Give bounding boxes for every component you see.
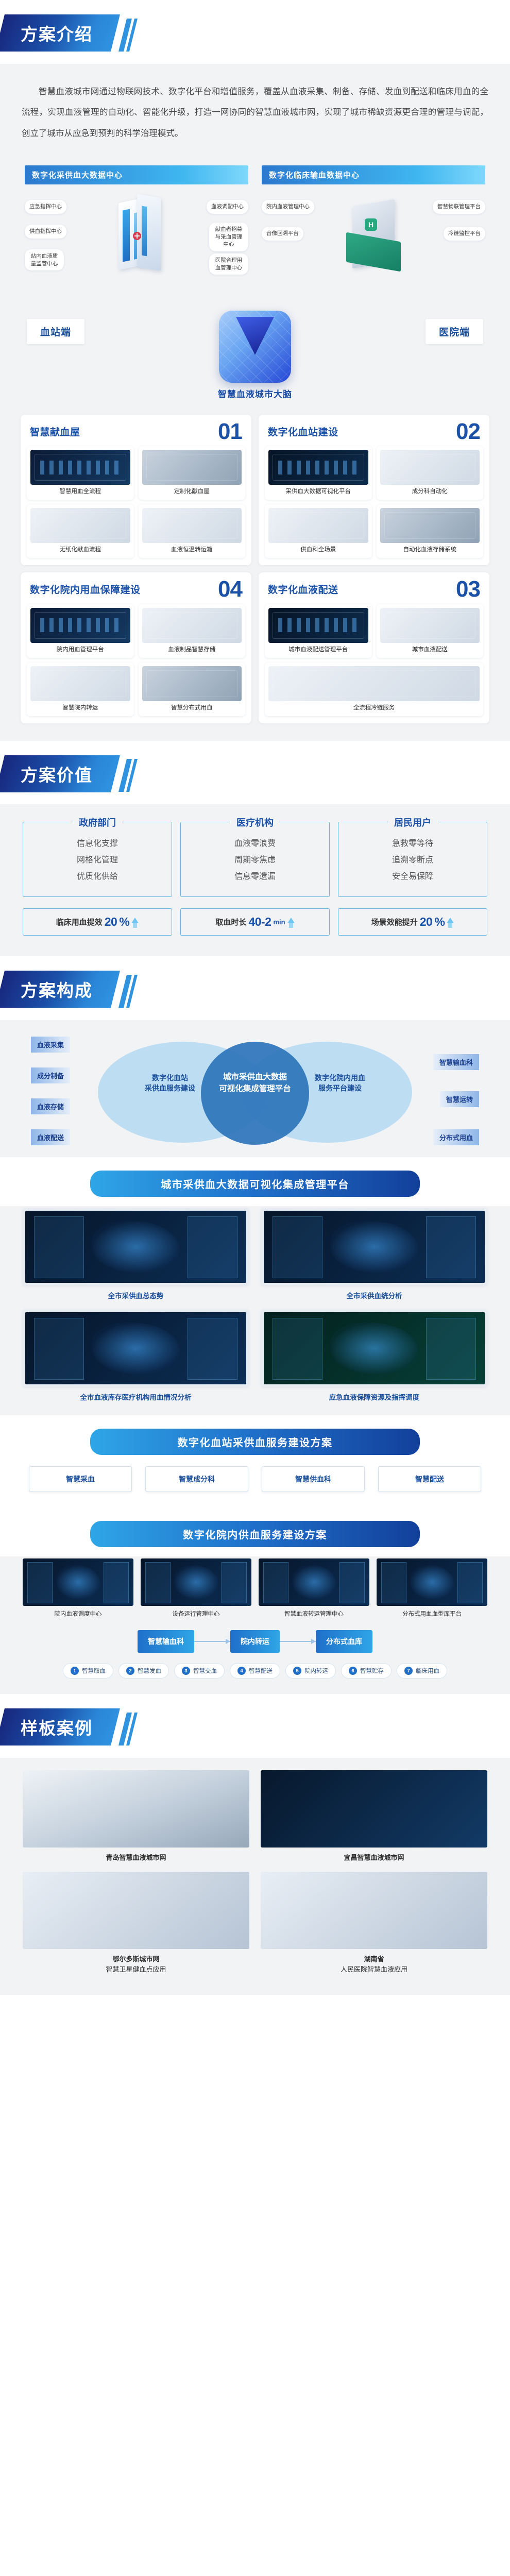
intro-paragraph: 智慧血液城市网通过物联网技术、数字化平台和增值服务，覆盖从血液采集、制备、存储、… [22, 81, 488, 144]
hospital-flow-row: 智慧输血科 院内转运 分布式血库 [23, 1630, 487, 1653]
brain-caption: 智慧血液城市大脑 [218, 387, 292, 400]
venn-side-tag-right: 智慧输血科 [433, 1054, 479, 1070]
tile-label: 成分科自动化 [380, 488, 480, 496]
dashboard-caption: 全市血液库存医疗机构用血情况分析 [23, 1392, 249, 1402]
value-card-title: 居民用户 [388, 816, 437, 829]
data-center-left: 数字化采供血大数据中心 应急指挥中心 供血指挥中心 站内血液质量监管中心 血液调… [25, 165, 248, 283]
data-center-right: 数字化临床输血数据中心 H 院内血液管理中心 音像回溯平台 智慧物联管理平台 冷… [262, 165, 485, 283]
case-item[interactable]: 宜昌智慧血液城市网 [261, 1770, 487, 1863]
hospital-building-icon: H [343, 196, 404, 281]
scheme-chip[interactable]: 智慧成分科 [145, 1466, 248, 1492]
step-label: 智慧发血 [138, 1667, 161, 1675]
venn-side-tag-left: 血液配送 [31, 1129, 70, 1145]
dc-pill: 应急指挥中心 [25, 200, 66, 214]
station-scheme-chips: 智慧采血 智慧成分科 智慧供血科 智慧配送 [0, 1464, 510, 1507]
brain-row: 血站端 医院端 智慧血液城市大脑 [0, 296, 510, 399]
card-number: 02 [456, 422, 480, 441]
card-tile[interactable]: 成分科自动化 [377, 446, 484, 500]
scheme-chip[interactable]: 智慧供血科 [262, 1466, 365, 1492]
stat-card: 临床用血提效 20 % [23, 908, 172, 936]
stat-unit: min [273, 918, 285, 926]
stat-value: 20 [105, 915, 117, 929]
hs-caption: 分布式用血血型库平台 [377, 1609, 487, 1618]
case-photo [23, 1770, 249, 1848]
dc-pill: 医院合理用血管理中心 [209, 253, 248, 275]
data-center-diagram: 数字化采供血大数据中心 应急指挥中心 供血指挥中心 站内血液质量监管中心 血液调… [0, 163, 510, 296]
intro-block: 智慧血液城市网通过物联网技术、数字化平台和增值服务，覆盖从血液采集、制备、存储、… [0, 64, 510, 163]
value-item: 血液零浪费 [186, 836, 324, 852]
card-tile[interactable]: 血液制品智慧存储 [139, 604, 246, 658]
dc-pill: 音像回溯平台 [262, 227, 303, 241]
banner-label-cases: 样板案例 [21, 1715, 93, 1739]
tile-label: 智慧用血全流程 [30, 488, 130, 496]
case-subtitle: 人民医院智慧血液应用 [341, 1965, 407, 1973]
scheme-chip[interactable]: 智慧配送 [378, 1466, 481, 1492]
arrow-up-icon [447, 918, 454, 923]
tile-label: 城市血液配送 [380, 646, 480, 654]
hospital-scheme-section: 院内血液调度中心 设备运行管理中心 智慧血液转运管理中心 分布式用血血型库平台 … [0, 1556, 510, 1694]
hs-caption: 设备运行管理中心 [141, 1609, 251, 1618]
city-brain-chip-icon [219, 311, 291, 383]
card-tile[interactable]: 血液恒温转运箱 [139, 504, 246, 558]
card-title: 数字化院内用血保障建设 [30, 582, 141, 596]
value-item: 信息零遗漏 [186, 869, 324, 885]
arrow-up-icon [131, 918, 139, 923]
numbered-cards-area: 智慧献血屋 01 智慧用血全流程 定制化献血屋 无纸化献血流程 血液恒温转运箱 … [0, 399, 510, 741]
flow-node[interactable]: 分布式血库 [316, 1630, 372, 1653]
flow-step[interactable]: 5院内转运 [285, 1663, 336, 1679]
venn-side-tag-right: 分布式用血 [433, 1129, 479, 1145]
data-center-title-0: 数字化采供血大数据中心 [25, 165, 248, 184]
value-item: 信息化支撑 [28, 836, 166, 852]
platform-dashboards: 全市采供血总态势 全市采供血统分析 全市血液库存医疗机构用血情况分析 应急血液保… [0, 1206, 510, 1415]
infographic-page: 方案介绍 智慧血液城市网通过物联网技术、数字化平台和增值服务，覆盖从血液采集、制… [0, 0, 510, 1995]
step-label: 临床用血 [416, 1667, 439, 1675]
tile-label: 采供血大数据可视化平台 [268, 488, 368, 496]
tile-label: 院内用血管理平台 [30, 646, 130, 654]
flow-step[interactable]: 6智慧贮存 [341, 1663, 392, 1679]
stat-value: 40-2 [248, 915, 271, 929]
numbered-card-02[interactable]: 数字化血站建设 02 采供血大数据可视化平台 成分科自动化 供血科全场景 自动化… [259, 415, 489, 565]
step-label: 智慧交血 [193, 1667, 217, 1675]
hs-screen-item[interactable]: 分布式用血血型库平台 [377, 1558, 487, 1618]
stat-card: 场景效能提升 20 % [338, 908, 487, 936]
tile-label: 城市血液配送管理平台 [268, 646, 368, 654]
case-photo [261, 1872, 487, 1949]
section-banner-intro: 方案介绍 [0, 14, 120, 52]
stat-unit: % [119, 915, 129, 929]
banner-slash-decor [123, 1713, 136, 1745]
banner-label-composition: 方案构成 [21, 977, 93, 1002]
banner-label-intro: 方案介绍 [21, 21, 93, 45]
flow-node[interactable]: 院内转运 [230, 1630, 280, 1653]
stats-row: 临床用血提效 20 % 取血时长 40-2 min 场景效能提升 20 % [23, 908, 487, 936]
hs-caption: 院内血液调度中心 [23, 1609, 133, 1618]
flow-step[interactable]: 3智慧交血 [174, 1663, 225, 1679]
case-subtitle: 智慧卫星健血点应用 [106, 1965, 166, 1973]
value-card-title: 政府部门 [73, 816, 122, 829]
numbered-card-04[interactable]: 数字化院内用血保障建设 04 院内用血管理平台 血液制品智慧存储 智慧院内转运 … [21, 572, 251, 723]
case-photo [23, 1872, 249, 1949]
dc-pill: 血液调配中心 [207, 200, 248, 214]
tile-label: 定制化献血屋 [142, 488, 242, 496]
numbered-card-01[interactable]: 智慧献血屋 01 智慧用血全流程 定制化献血屋 无纸化献血流程 血液恒温转运箱 [21, 415, 251, 565]
step-label: 智慧取血 [82, 1667, 106, 1675]
tile-label: 血液制品智慧存储 [142, 646, 242, 654]
value-card-residents: 居民用户 急救零等待 追溯零断点 安全易保障 [338, 822, 487, 897]
arrow-up-icon [287, 918, 295, 923]
dc-pill: 献血者招募与采血管理中心 [209, 223, 248, 251]
tile-label: 智慧分布式用血 [142, 704, 242, 712]
venn-side-tag-right: 智慧运转 [440, 1091, 479, 1107]
card-number: 01 [218, 422, 242, 441]
label-hospital-end: 医院端 [426, 319, 483, 344]
flow-arrow-icon [280, 1641, 316, 1642]
value-item: 急救零等待 [344, 836, 482, 852]
value-card-medical: 医疗机构 血液零浪费 周期零焦虑 信息零遗漏 [180, 822, 330, 897]
numbered-card-03[interactable]: 数字化血液配送 03 城市血液配送管理平台 城市血液配送 全流程冷链服务 [259, 572, 489, 723]
blood-station-building-icon [106, 196, 167, 281]
tile-label: 自动化血液存储系统 [380, 546, 480, 554]
card-tile[interactable]: 采供血大数据可视化平台 [265, 446, 372, 500]
card-tile[interactable]: 智慧院内转运 [27, 663, 134, 716]
step-label: 智慧配送 [249, 1667, 273, 1675]
venn-side-tag-left: 血液存储 [31, 1098, 70, 1114]
venn-right-line1: 数字化院内用血 [291, 1073, 389, 1083]
venn-side-tag-left: 血液采集 [31, 1037, 70, 1053]
card-tile[interactable]: 供血科全场景 [265, 504, 372, 558]
stat-unit: % [434, 915, 445, 929]
cases-banner-wrap: 样板案例 [0, 1694, 510, 1758]
value-item: 追溯零断点 [344, 852, 482, 869]
flow-step[interactable]: 1智慧取血 [63, 1663, 113, 1679]
dc-pill: 站内血液质量监管中心 [25, 249, 64, 270]
step-label: 智慧贮存 [360, 1667, 384, 1675]
value-item: 网格化管理 [28, 852, 166, 869]
card-tile[interactable]: 院内用血管理平台 [27, 604, 134, 658]
dc-pill: 院内血液管理中心 [262, 200, 314, 214]
case-title: 宜昌智慧血液城市网 [261, 1853, 487, 1863]
hs-caption: 智慧血液转运管理中心 [259, 1609, 369, 1618]
dashboard-caption: 应急血液保障资源及指挥调度 [261, 1392, 487, 1402]
card-tile[interactable]: 全流程冷链服务 [265, 663, 483, 716]
case-title: 鄂尔多斯城市网 [23, 1954, 249, 1964]
case-photo [261, 1770, 487, 1848]
case-item[interactable]: 鄂尔多斯城市网 智慧卫星健血点应用 [23, 1872, 249, 1974]
card-tile[interactable]: 无纸化献血流程 [27, 504, 134, 558]
flow-step[interactable]: 7临床用血 [397, 1663, 447, 1679]
label-blood-station-end: 血站端 [27, 319, 84, 344]
stat-value: 20 [420, 915, 433, 929]
card-tile[interactable]: 智慧用血全流程 [27, 446, 134, 500]
flow-step[interactable]: 2智慧发血 [118, 1663, 169, 1679]
card-number: 04 [218, 580, 242, 599]
stat-label: 临床用血提效 [56, 917, 103, 927]
case-title: 湖南省 [261, 1954, 487, 1964]
hs-screen-item[interactable]: 设备运行管理中心 [141, 1558, 251, 1618]
venn-right-line2: 服务平台建设 [291, 1083, 389, 1093]
banner-slash-decor [123, 19, 136, 52]
tile-label: 无纸化献血流程 [30, 546, 130, 554]
composition-section: 数字化血站 采供血服务建设 城市采供血大数据 可视化集成管理平台 数字化院内用血… [0, 1020, 510, 1157]
composition-banner-wrap: 方案构成 [0, 956, 510, 1020]
section-banner-cases: 样板案例 [0, 1708, 120, 1745]
card-tile[interactable]: 城市血液配送管理平台 [265, 604, 372, 658]
flow-node[interactable]: 智慧输血科 [138, 1630, 194, 1653]
cases-section: 青岛智慧血液城市网 宜昌智慧血液城市网 鄂尔多斯城市网 智慧卫星健血点应用 湖南… [0, 1758, 510, 1995]
hs-screen-item[interactable]: 智慧血液转运管理中心 [259, 1558, 369, 1618]
card-title: 数字化血站建设 [268, 425, 338, 438]
card-tile[interactable]: 智慧分布式用血 [139, 663, 246, 716]
intro-banner-wrap: 方案介绍 [0, 0, 510, 64]
dc-pill: 智慧物联管理平台 [433, 200, 485, 214]
card-title: 智慧献血屋 [30, 425, 80, 438]
section-banner-composition: 方案构成 [0, 971, 120, 1008]
hospital-scheme-header: 数字化院内供血服务建设方案 [90, 1521, 420, 1547]
dashboard-caption: 全市采供血总态势 [23, 1290, 249, 1300]
card-number: 03 [456, 580, 480, 599]
tile-label: 供血科全场景 [268, 546, 368, 554]
banner-slash-decor [123, 759, 136, 792]
card-tile[interactable]: 自动化血液存储系统 [377, 504, 484, 558]
value-item: 优质化供给 [28, 869, 166, 885]
tile-label: 智慧院内转运 [30, 704, 130, 712]
section-banner-value: 方案价值 [0, 755, 120, 792]
data-center-title-1: 数字化临床输血数据中心 [262, 165, 485, 184]
value-banner-wrap: 方案价值 [0, 741, 510, 805]
value-card-title: 医疗机构 [230, 816, 280, 829]
scheme-chip[interactable]: 智慧采血 [29, 1466, 132, 1492]
banner-slash-decor [123, 975, 136, 1008]
tile-label: 全流程冷链服务 [268, 704, 480, 712]
dashboard-caption: 全市采供血统分析 [261, 1290, 487, 1300]
card-title: 数字化血液配送 [268, 582, 338, 596]
venn-diagram: 数字化血站 采供血服务建设 城市采供血大数据 可视化集成管理平台 数字化院内用血… [21, 1033, 489, 1152]
flow-step[interactable]: 4智慧配送 [230, 1663, 280, 1679]
step-label: 院内转运 [304, 1667, 328, 1675]
case-item[interactable]: 湖南省 人民医院智慧血液应用 [261, 1872, 487, 1974]
card-tile[interactable]: 定制化献血屋 [139, 446, 246, 500]
venn-side-tag-left: 成分制备 [31, 1067, 70, 1083]
case-item[interactable]: 青岛智慧血液城市网 [23, 1770, 249, 1863]
tile-label: 血液恒温转运箱 [142, 546, 242, 554]
dashboard-item[interactable]: 全市采供血总态势 [23, 1208, 249, 1300]
station-scheme-header: 数字化血站采供血服务建设方案 [90, 1429, 420, 1455]
dashboard-item[interactable]: 全市采供血统分析 [261, 1208, 487, 1300]
hospital-steps-row: 1智慧取血 2智慧发血 3智慧交血 4智慧配送 5院内转运 6智慧贮存 7临床用… [23, 1663, 487, 1679]
stat-card: 取血时长 40-2 min [180, 908, 330, 936]
dashboard-item[interactable]: 应急血液保障资源及指挥调度 [261, 1310, 487, 1402]
platform-header: 城市采供血大数据可视化集成管理平台 [90, 1171, 420, 1197]
value-item: 安全易保障 [344, 869, 482, 885]
case-title: 青岛智慧血液城市网 [23, 1853, 249, 1863]
dc-pill: 供血指挥中心 [25, 225, 66, 239]
card-tile[interactable]: 城市血液配送 [377, 604, 484, 658]
hs-screen-item[interactable]: 院内血液调度中心 [23, 1558, 133, 1618]
value-section: 政府部门 信息化支撑 网格化管理 优质化供给 医疗机构 血液零浪费 周期零焦虑 … [0, 804, 510, 956]
value-card-government: 政府部门 信息化支撑 网格化管理 优质化供给 [23, 822, 172, 897]
venn-label-right: 数字化院内用血 服务平台建设 [291, 1073, 389, 1094]
banner-label-value: 方案价值 [21, 761, 93, 786]
stat-label: 取血时长 [215, 917, 246, 927]
value-item: 周期零焦虑 [186, 852, 324, 869]
dashboard-item[interactable]: 全市血液库存医疗机构用血情况分析 [23, 1310, 249, 1402]
stat-label: 场景效能提升 [371, 917, 418, 927]
flow-arrow-icon [194, 1641, 230, 1642]
dc-pill: 冷链监控平台 [444, 227, 485, 241]
